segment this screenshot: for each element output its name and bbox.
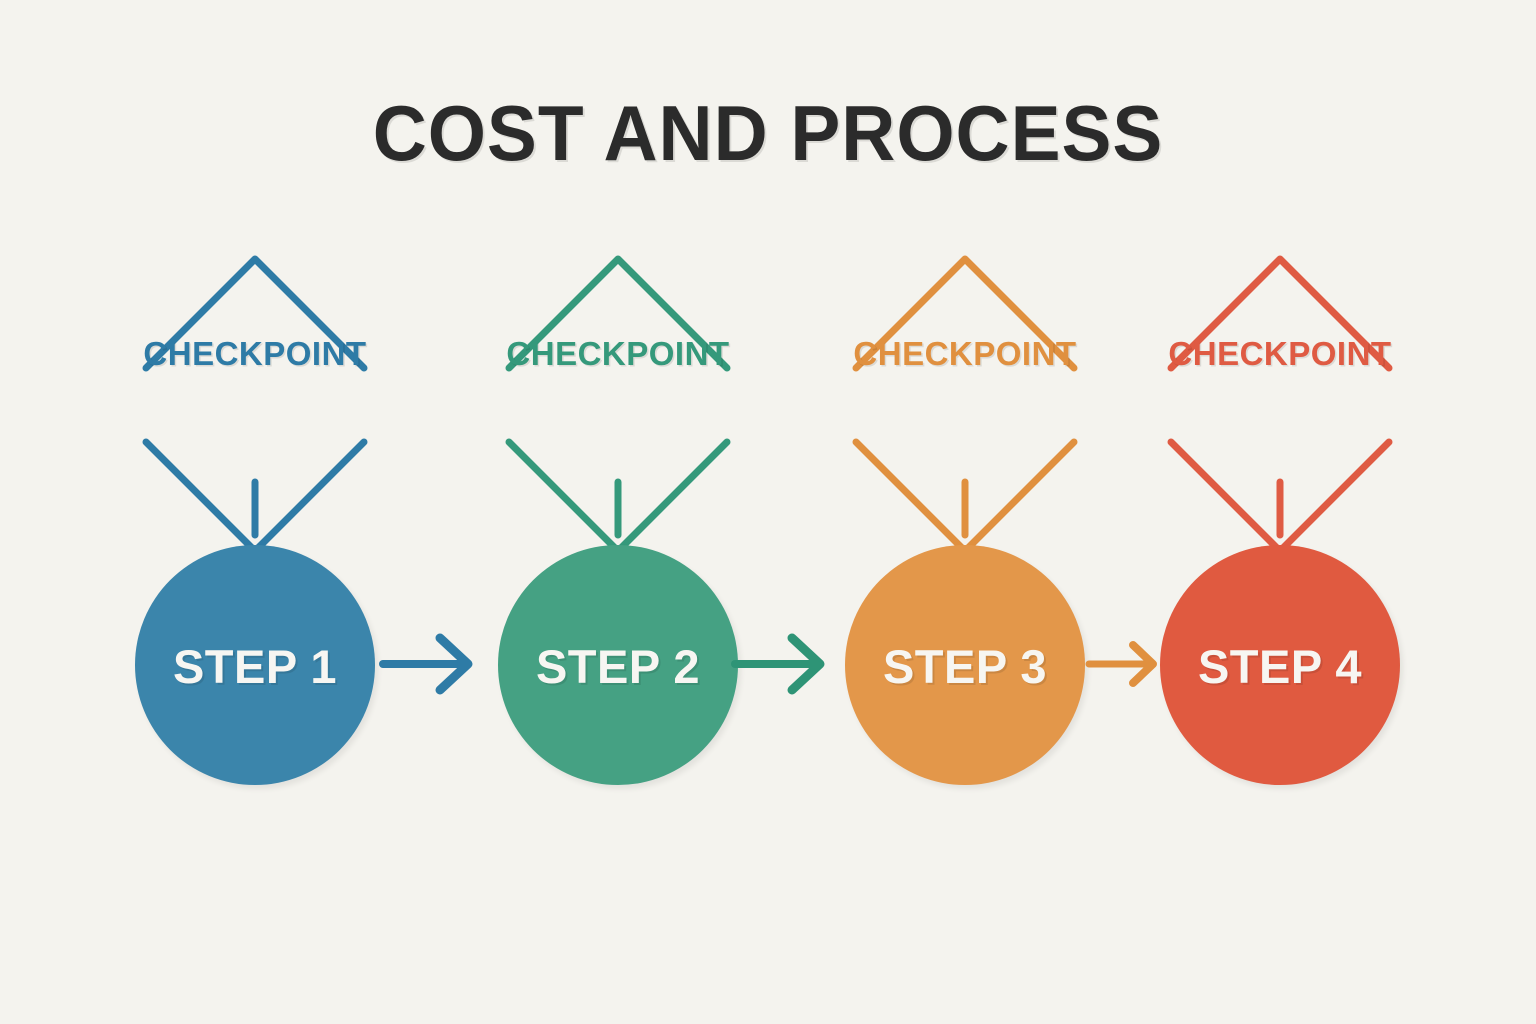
checkpoint-label-4: CHECKPOINT xyxy=(1108,335,1452,373)
connector-line-3 xyxy=(815,470,1115,550)
process-node-1[interactable]: CHECKPOINT STEP 1 xyxy=(105,240,405,800)
step-label-1: STEP 1 xyxy=(173,639,337,694)
connector-line-2 xyxy=(468,470,768,550)
checkpoint-label-1: CHECKPOINT xyxy=(83,335,427,373)
step-circle-2[interactable]: STEP 2 xyxy=(498,545,738,785)
connector-line-4 xyxy=(1130,470,1430,550)
diagram-canvas: COST AND PROCESS CHECKPOINT STEP 1 xyxy=(0,0,1536,1024)
connector-line-1 xyxy=(105,470,405,550)
step-label-2: STEP 2 xyxy=(536,639,700,694)
process-flow: CHECKPOINT STEP 1 CHECKPOINT xyxy=(0,0,1536,1024)
process-node-3[interactable]: CHECKPOINT STEP 3 xyxy=(815,240,1115,800)
step-label-4: STEP 4 xyxy=(1198,639,1362,694)
step-circle-3[interactable]: STEP 3 xyxy=(845,545,1085,785)
process-node-4[interactable]: CHECKPOINT STEP 4 xyxy=(1130,240,1430,800)
step-circle-4[interactable]: STEP 4 xyxy=(1160,545,1400,785)
checkpoint-label-3: CHECKPOINT xyxy=(793,335,1137,373)
step-circle-1[interactable]: STEP 1 xyxy=(135,545,375,785)
step-label-3: STEP 3 xyxy=(883,639,1047,694)
process-node-2[interactable]: CHECKPOINT STEP 2 xyxy=(468,240,768,800)
checkpoint-label-2: CHECKPOINT xyxy=(446,335,790,373)
